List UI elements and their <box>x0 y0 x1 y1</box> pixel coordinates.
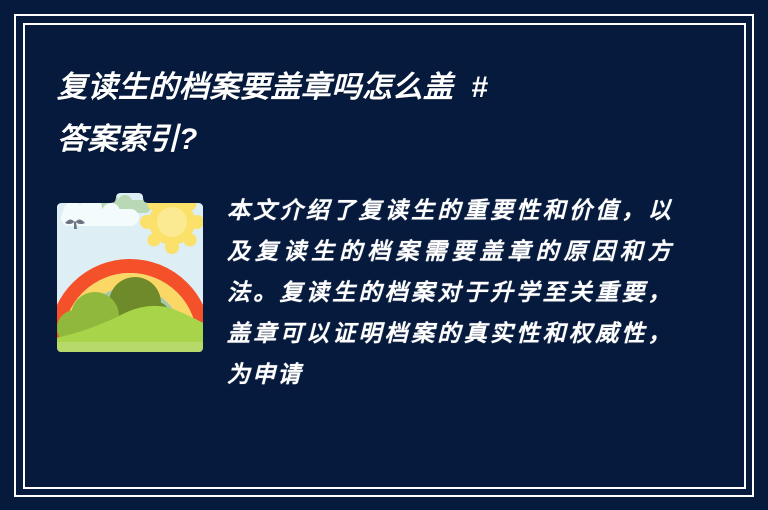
illustration-container <box>0 190 205 355</box>
content-row: 本文介绍了复读生的重要性和价值，以及复读生的档案需要盖章的原因和方法。复读生的档… <box>0 190 768 395</box>
page-title: 复读生的档案要盖章吗怎么盖 # 答案索引? <box>57 62 677 166</box>
title-line-1: 复读生的档案要盖章吗怎么盖 # <box>57 62 677 114</box>
sun-icon <box>140 190 204 254</box>
body-paragraph: 本文介绍了复读生的重要性和价值，以及复读生的档案需要盖章的原因和方法。复读生的档… <box>227 190 673 395</box>
body-text-container: 本文介绍了复读生的重要性和价值，以及复读生的档案需要盖章的原因和方法。复读生的档… <box>205 190 768 395</box>
title-line-2: 答案索引? <box>57 114 677 166</box>
poster-canvas: 复读生的档案要盖章吗怎么盖 # 答案索引? <box>0 0 768 510</box>
ground-bar-shape <box>55 342 205 352</box>
rainbow-landscape-illustration <box>55 190 205 355</box>
